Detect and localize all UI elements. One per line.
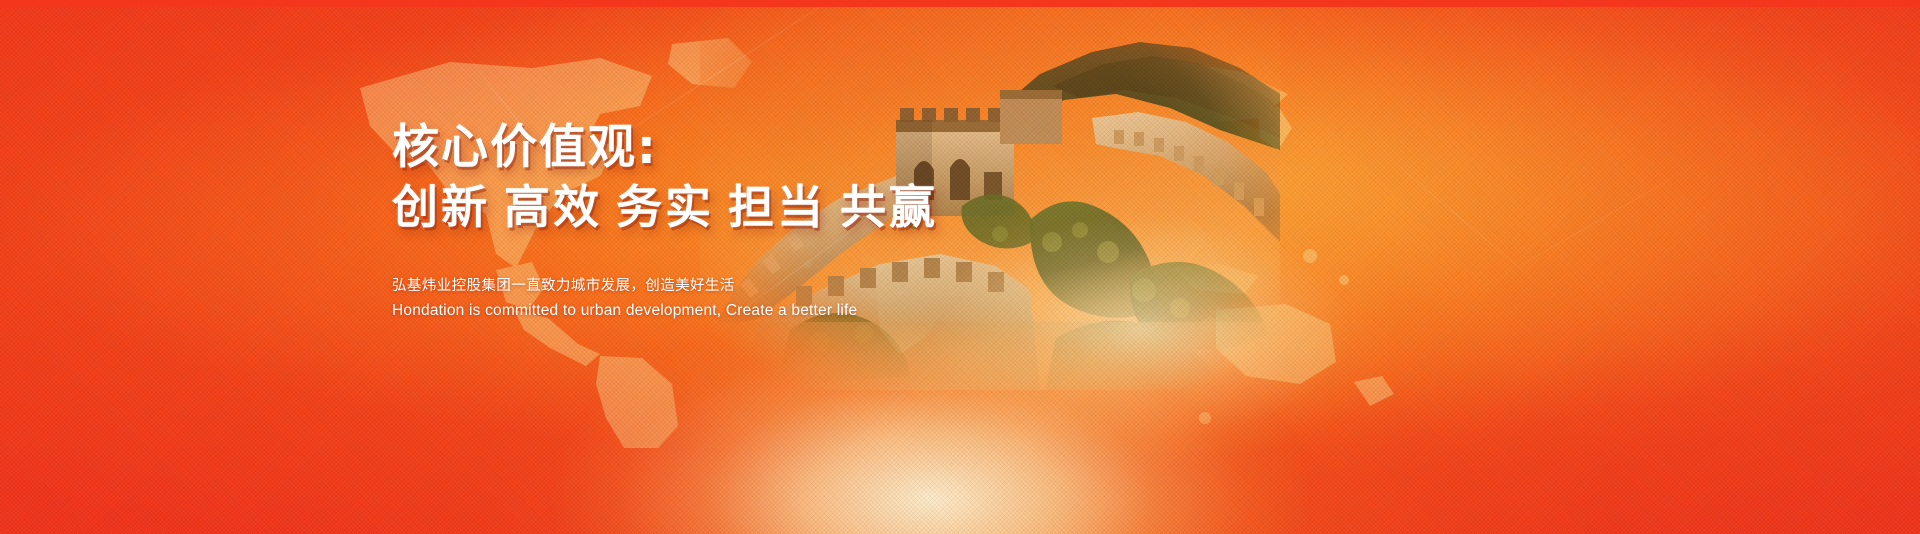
subtitle-english: Hondation is committed to urban developm…: [392, 298, 1092, 323]
value-word-3: 务实: [616, 180, 714, 234]
headline-title: 核心价值观:: [392, 120, 1092, 176]
top-edge-strip: [0, 0, 1920, 7]
banner-content: 核心价值观: 创新高效务实担当共赢 弘基炜业控股集团一直致力城市发展，创造美好生…: [392, 120, 1092, 323]
value-word-4: 担当: [728, 180, 826, 234]
subtitle-block: 弘基炜业控股集团一直致力城市发展，创造美好生活 Hondation is com…: [392, 274, 1092, 323]
value-word-1: 创新: [392, 180, 490, 234]
value-word-5: 共赢: [840, 180, 938, 234]
subtitle-chinese: 弘基炜业控股集团一直致力城市发展，创造美好生活: [392, 274, 1092, 298]
hero-banner: 核心价值观: 创新高效务实担当共赢 弘基炜业控股集团一直致力城市发展，创造美好生…: [0, 0, 1920, 534]
value-word-2: 高效: [504, 180, 602, 234]
headline-values: 创新高效务实担当共赢: [392, 178, 1092, 236]
